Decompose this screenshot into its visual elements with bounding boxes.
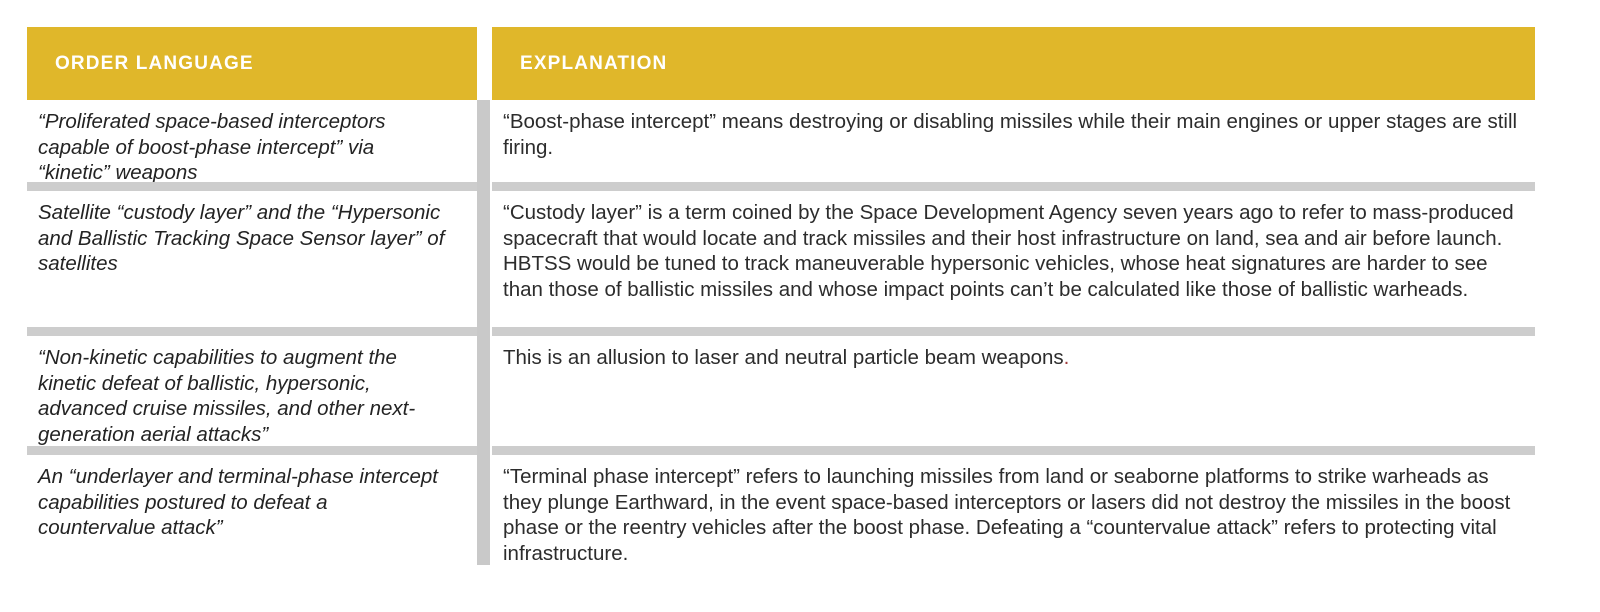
column-header-label-explanation: EXPLANATION	[492, 53, 667, 75]
row-separator-right	[492, 327, 1535, 336]
row-separator-left	[27, 182, 477, 191]
table-header-cell-order-language: ORDER LANGUAGE	[27, 27, 477, 100]
table-row: “Proliferated space-based interceptors c…	[0, 100, 1600, 182]
comparison-table: ORDER LANGUAGE EXPLANATION “Proliferated…	[0, 0, 1600, 612]
table-header-cell-explanation: EXPLANATION	[492, 27, 1535, 100]
cell-explanation-trailing-period: .	[1064, 346, 1070, 369]
table-row: An “underlayer and terminal-phase interc…	[0, 455, 1600, 565]
cell-explanation-text: This is an allusion to laser and neutral…	[503, 346, 1064, 369]
cell-order-language: Satellite “custody layer” and the “Hyper…	[27, 191, 477, 327]
row-separator-right	[492, 446, 1535, 455]
cell-order-language: “Proliferated space-based interceptors c…	[27, 100, 477, 182]
table-row: Satellite “custody layer” and the “Hyper…	[0, 191, 1600, 327]
cell-explanation: “Terminal phase intercept” refers to lau…	[492, 455, 1535, 565]
cell-order-language: An “underlayer and terminal-phase interc…	[27, 455, 477, 565]
cell-explanation: This is an allusion to laser and neutral…	[492, 336, 1535, 446]
row-separator-left	[27, 446, 477, 455]
row-separator-left	[27, 327, 477, 336]
cell-explanation: “Custody layer” is a term coined by the …	[492, 191, 1535, 327]
column-header-label-order-language: ORDER LANGUAGE	[27, 53, 254, 75]
table-row: “Non-kinetic capabilities to augment the…	[0, 336, 1600, 446]
table-header-row: ORDER LANGUAGE EXPLANATION	[0, 27, 1600, 100]
cell-explanation: “Boost-phase intercept” means destroying…	[492, 100, 1535, 182]
cell-order-language: “Non-kinetic capabilities to augment the…	[27, 336, 477, 446]
row-separator-right	[492, 182, 1535, 191]
